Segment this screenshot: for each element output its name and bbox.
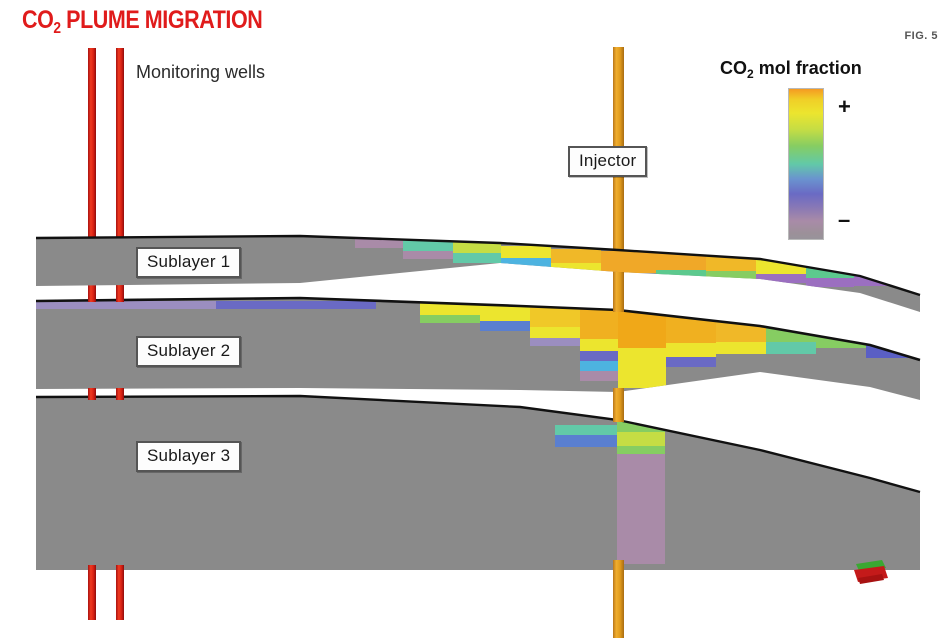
plume-cell <box>666 357 716 367</box>
colorbar-title-rest: mol fraction <box>754 58 862 78</box>
plume-cell <box>756 274 806 283</box>
sublayer-1-label: Sublayer 1 <box>136 247 241 278</box>
plume-cell <box>216 301 376 309</box>
plume-cell <box>403 251 453 259</box>
colorbar-title-co: CO <box>720 58 747 78</box>
plume-cell <box>501 246 551 258</box>
plume-cell <box>530 307 580 327</box>
colorbar-max-label: + <box>838 94 851 120</box>
plume-cell <box>666 343 716 357</box>
monitoring-wells-label: Monitoring wells <box>136 62 265 83</box>
plume-cell <box>555 425 617 435</box>
plume-cell <box>555 435 617 447</box>
plume-cell <box>601 251 656 273</box>
colorbar-gradient <box>788 88 824 240</box>
plume-cell <box>618 348 666 388</box>
plume-cell <box>706 271 756 280</box>
plume-cell <box>617 454 665 564</box>
plume-cell <box>806 278 854 287</box>
plume-cell <box>36 301 216 309</box>
plume-cell <box>617 446 665 454</box>
plume-cell <box>580 361 618 371</box>
colorbar-title-subscript: 2 <box>747 67 754 81</box>
injector-label: Injector <box>568 146 647 177</box>
plume-cell <box>580 339 618 351</box>
figure-canvas: CO2 PLUME MIGRATION FIG. 5 <box>0 0 950 640</box>
plume-cell <box>580 351 618 361</box>
sublayer-2-label: Sublayer 2 <box>136 336 241 367</box>
plume-cell <box>420 315 480 323</box>
well-symbol-marker <box>854 560 888 584</box>
colorbar-min-label: – <box>838 216 850 225</box>
plume-cell <box>551 249 601 263</box>
plume-cell <box>501 258 551 268</box>
plume-cell <box>766 342 816 354</box>
plume-cell <box>580 309 618 339</box>
plume-cell <box>530 327 580 338</box>
plume-cell <box>656 270 706 279</box>
colorbar-legend: CO2 mol fraction + – <box>700 58 940 258</box>
plume-cell <box>453 253 501 263</box>
colorbar-title: CO2 mol fraction <box>720 58 862 81</box>
plume-cell <box>580 371 618 381</box>
sublayer-3-body <box>36 396 920 570</box>
plume-cell <box>530 338 580 346</box>
sublayer-3-label: Sublayer 3 <box>136 441 241 472</box>
plume-cell <box>551 263 601 272</box>
plume-cell <box>716 342 766 354</box>
sublayer-3-group <box>36 396 920 570</box>
plume-cell <box>480 321 530 331</box>
plume-cell <box>617 432 665 446</box>
